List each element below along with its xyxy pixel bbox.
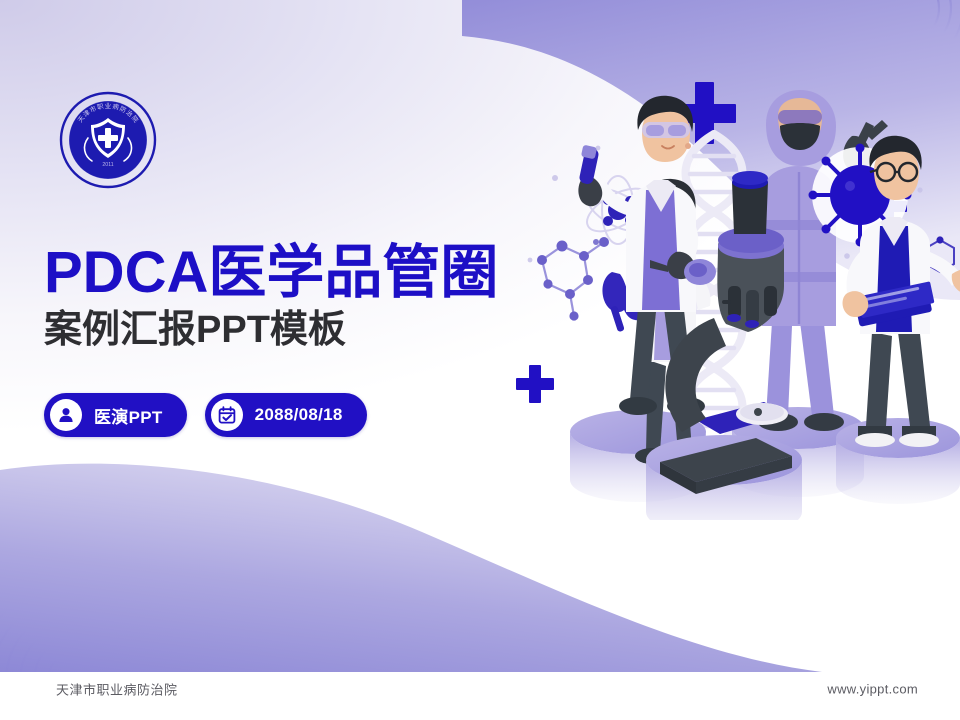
author-badge[interactable]: 医演PPT — [44, 393, 187, 437]
safety-goggles — [642, 122, 690, 138]
footer-website: www.yippt.com — [827, 682, 918, 697]
page-subtitle: 案例汇报PPT模板 — [44, 309, 564, 352]
page-title: PDCA医学品管圈 — [44, 243, 564, 303]
hospital-logo: 天 津 市 职 业 病 防 治 院 2011 — [58, 90, 158, 190]
date-badge[interactable]: 2088/08/18 — [205, 393, 367, 437]
svg-text:业: 业 — [105, 101, 112, 110]
author-label: 医演PPT — [94, 403, 163, 428]
podium-right — [836, 418, 960, 504]
user-icon — [50, 399, 82, 431]
presentation-slide: 天 津 市 职 业 病 防 治 院 2011 — [0, 0, 960, 720]
date-label: 2088/08/18 — [255, 405, 343, 425]
footer-organization: 天津市职业病防治院 — [56, 680, 178, 699]
logo-year: 2011 — [102, 162, 113, 168]
meta-badges: 医演PPT 2088/08/18 — [44, 393, 367, 437]
headline-block: PDCA医学品管圈 案例汇报PPT模板 — [44, 243, 564, 352]
calendar-check-icon — [211, 399, 243, 431]
medical-research-illustration — [500, 60, 960, 520]
plus-symbol-bottom-left — [516, 365, 554, 403]
